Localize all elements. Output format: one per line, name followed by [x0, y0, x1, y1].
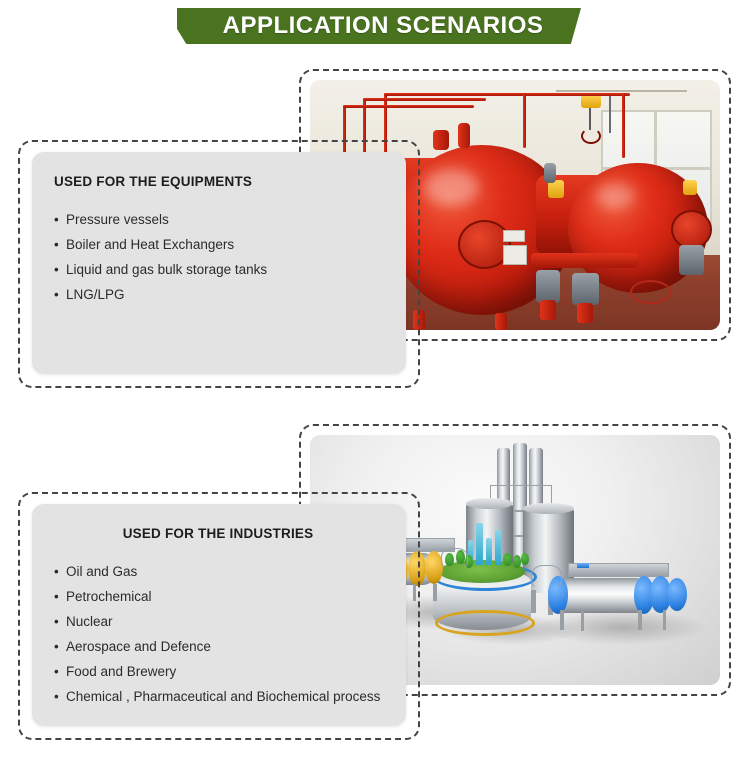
vessel-leg-2 [495, 313, 507, 331]
blue-drum-leg-3 [638, 610, 642, 630]
list-item: Petrochemical [54, 584, 388, 609]
hanging-cable-1 [609, 93, 611, 133]
gold-drum-cap-right [425, 551, 443, 584]
crane-block [581, 95, 602, 108]
equipment-text-panel: USED FOR THE EQUIPMENTS Pressure vessels… [32, 152, 406, 374]
tree-6 [521, 553, 529, 566]
list-item: Boiler and Heat Exchangers [54, 232, 388, 257]
vessel-nozzle-2 [458, 123, 470, 148]
storage-silo-right-top [523, 503, 574, 514]
list-item: Chemical , Pharmaceutical and Biochemica… [54, 684, 388, 709]
manway-flange-2 [671, 210, 712, 249]
page-header: APPLICATION SCENARIOS [0, 8, 750, 52]
gate-valve-2 [572, 273, 599, 306]
valve-riser-1 [540, 300, 556, 320]
list-item: Nuclear [54, 609, 388, 634]
blue-drum-leg-2 [581, 611, 585, 631]
instrument-body-1 [544, 163, 556, 183]
gate-valve-3 [679, 245, 704, 275]
truss-rail-a [490, 485, 549, 486]
blue-drum-cap-right-3 [667, 578, 688, 612]
page-title: APPLICATION SCENARIOS [215, 12, 544, 40]
tree-4 [503, 553, 512, 567]
gold-drum-leg-4 [433, 584, 437, 602]
vessel-nozzle-1 [433, 130, 449, 150]
connector-pipe-right [531, 565, 562, 590]
blue-drum-leg-1 [560, 610, 564, 630]
industries-heading: USED FOR THE INDUSTRIES [54, 526, 388, 541]
tower-spire-2 [486, 538, 492, 566]
blue-platform-band-1 [577, 563, 589, 568]
application-scenarios-banner: APPLICATION SCENARIOS [177, 8, 581, 44]
list-item: Liquid and gas bulk storage tanks [54, 257, 388, 282]
tower-spire-1 [476, 523, 483, 566]
gate-valve-1 [536, 270, 561, 303]
nameplate-1 [503, 230, 526, 242]
industries-list: Oil and Gas Petrochemical Nuclear Aerosp… [54, 559, 388, 709]
silo-leg-1 [531, 590, 536, 613]
vessel-highlight-1 [424, 169, 478, 206]
list-item: Pressure vessels [54, 207, 388, 232]
red-hose-2 [630, 280, 671, 304]
header-pipe-1 [343, 105, 474, 108]
instruction-plate-1 [503, 245, 528, 265]
discharge-header [531, 253, 638, 268]
list-item: Aerospace and Defence [54, 634, 388, 659]
storage-silo-left-top [466, 498, 513, 509]
header-pipe-3 [384, 93, 528, 96]
vertical-pipe-4 [523, 93, 526, 148]
list-item: Food and Brewery [54, 659, 388, 684]
industries-text-panel: USED FOR THE INDUSTRIES Oil and Gas Petr… [32, 504, 406, 726]
blue-drum-leg-4 [663, 610, 667, 630]
basin-gold-rim [435, 610, 535, 636]
vertical-pipe-5 [622, 93, 625, 158]
yellow-actuator-1 [548, 180, 564, 198]
vessel-highlight-2 [596, 183, 635, 209]
list-item: Oil and Gas [54, 559, 388, 584]
connector-pipe-left [441, 548, 468, 570]
list-item: LNG/LPG [54, 282, 388, 307]
tree-5 [513, 555, 521, 568]
yellow-actuator-2 [683, 180, 697, 195]
tower-spire-3 [495, 530, 501, 565]
equipment-heading: USED FOR THE EQUIPMENTS [54, 174, 388, 189]
equipment-list: Pressure vessels Boiler and Heat Exchang… [54, 207, 388, 307]
valve-riser-2 [577, 303, 593, 323]
crane-hook [581, 128, 601, 145]
crane-cable [589, 108, 591, 131]
header-pipe-2 [363, 98, 486, 101]
